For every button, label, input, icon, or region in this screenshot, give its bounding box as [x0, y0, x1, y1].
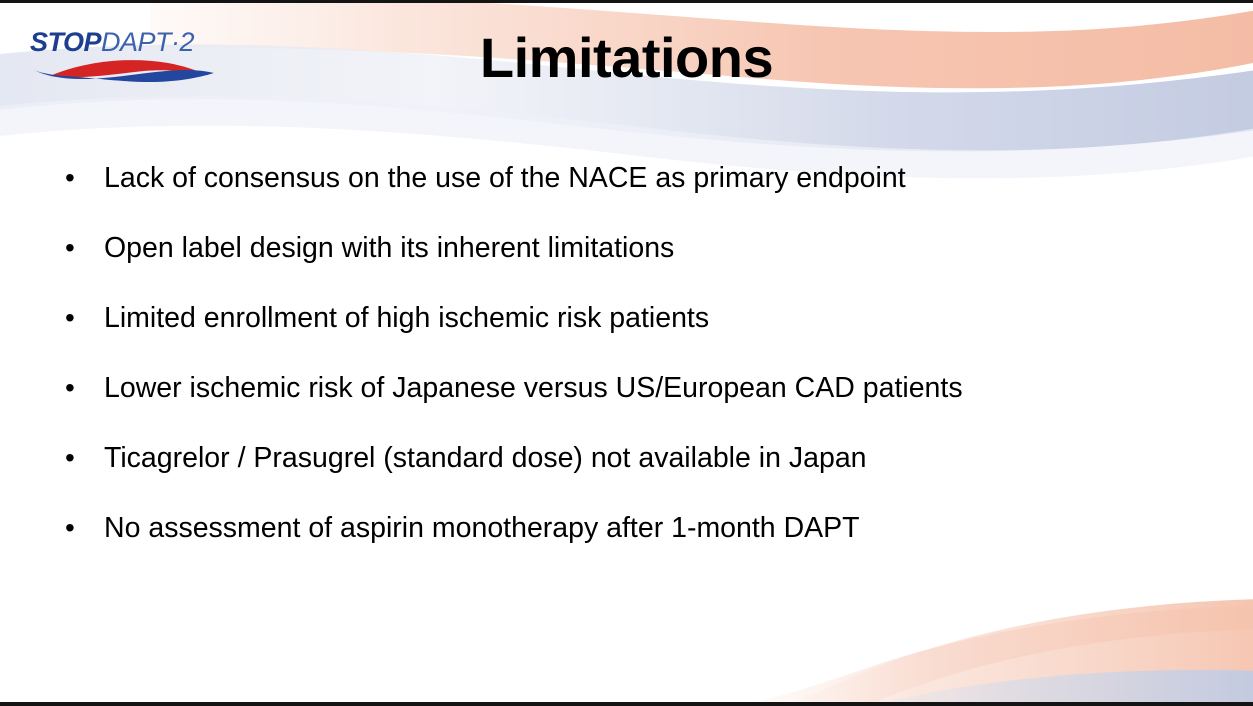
bullet-point-icon: •: [60, 161, 104, 195]
presentation-slide: STOPDAPT·2 Limitations • Lack of consens…: [0, 0, 1253, 706]
wave-pink-bottom-arc: [770, 599, 1253, 706]
list-item-label: Limited enrollment of high ischemic risk…: [104, 301, 709, 335]
wave-lavender-bottom: [852, 670, 1253, 706]
list-item: • Limited enrollment of high ischemic ri…: [60, 301, 1210, 371]
list-item-label: Open label design with its inherent limi…: [104, 231, 674, 265]
wave-pink-bottom: [720, 605, 1253, 706]
limitations-list: • Lack of consensus on the use of the NA…: [60, 161, 1210, 581]
list-item-label: Ticagrelor / Prasugrel (standard dose) n…: [104, 441, 867, 475]
list-item: • Lack of consensus on the use of the NA…: [60, 161, 1210, 231]
bullet-point-icon: •: [60, 301, 104, 335]
bullet-point-icon: •: [60, 371, 104, 405]
list-item: • Ticagrelor / Prasugrel (standard dose)…: [60, 441, 1210, 511]
list-item: • Lower ischemic risk of Japanese versus…: [60, 371, 1210, 441]
list-item-label: Lower ischemic risk of Japanese versus U…: [104, 371, 963, 405]
list-item-label: No assessment of aspirin monotherapy aft…: [104, 511, 860, 545]
bullet-point-icon: •: [60, 231, 104, 265]
list-item: • No assessment of aspirin monotherapy a…: [60, 511, 1210, 581]
page-title: Limitations: [0, 27, 1253, 89]
bullet-point-icon: •: [60, 511, 104, 545]
list-item-label: Lack of consensus on the use of the NACE…: [104, 161, 906, 195]
list-item: • Open label design with its inherent li…: [60, 231, 1210, 301]
bullet-point-icon: •: [60, 441, 104, 475]
